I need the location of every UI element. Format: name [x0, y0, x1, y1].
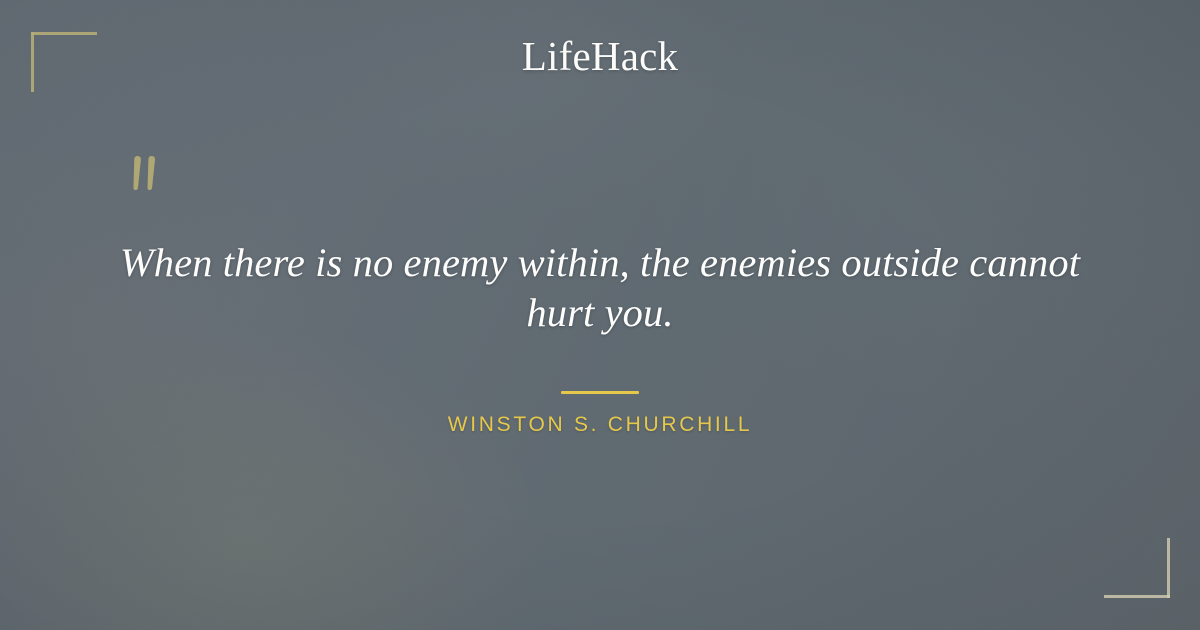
- corner-bracket-bottom-right-vertical-arm: [1167, 538, 1170, 598]
- attribution-container: WINSTON S. CHURCHILL: [0, 411, 1200, 439]
- quote-block: When there is no enemy within, the enemi…: [90, 238, 1110, 338]
- corner-bracket-top-left-horizontal-arm: [31, 32, 97, 35]
- divider-container: [0, 381, 1200, 399]
- quotation-mark-icon: [126, 150, 196, 220]
- brand-logo: LifeHack: [0, 36, 1200, 77]
- attribution-divider: [561, 391, 639, 394]
- quote-text: When there is no enemy within, the enemi…: [90, 238, 1110, 338]
- quote-card: LifeHack When there is no enemy within, …: [0, 0, 1200, 630]
- corner-bracket-bottom-right-horizontal-arm: [1104, 595, 1170, 598]
- quote-author: WINSTON S. CHURCHILL: [448, 411, 752, 439]
- corner-bracket-bottom-right: [1104, 538, 1170, 598]
- brand-logo-text: LifeHack: [522, 36, 678, 77]
